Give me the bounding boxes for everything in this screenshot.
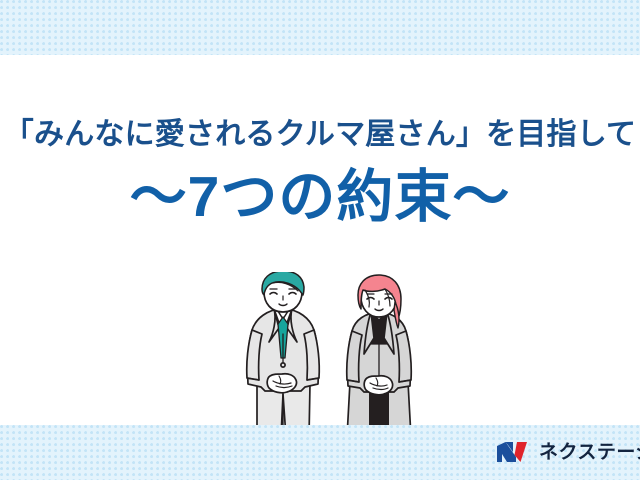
headline-line-2: 〜7つの約束〜 xyxy=(0,167,640,229)
headline-block: 「みんなに愛されるクルマ屋さん」を目指して 〜7つの約束〜 xyxy=(0,118,640,228)
headline-line-1: 「みんなに愛されるクルマ屋さん」を目指して xyxy=(0,118,640,153)
brand-logo: ネクステージ xyxy=(496,437,640,467)
brand-name: ネクステージ xyxy=(539,443,640,462)
nextage-n-mark xyxy=(496,440,532,464)
two-bowing-staff-illustration xyxy=(243,272,423,437)
promo-banner: 「みんなに愛されるクルマ屋さん」を目指して 〜7つの約束〜 xyxy=(0,0,640,480)
top-dot-band xyxy=(0,0,640,55)
male-staff-figure xyxy=(247,272,320,437)
female-staff-figure xyxy=(347,275,412,437)
